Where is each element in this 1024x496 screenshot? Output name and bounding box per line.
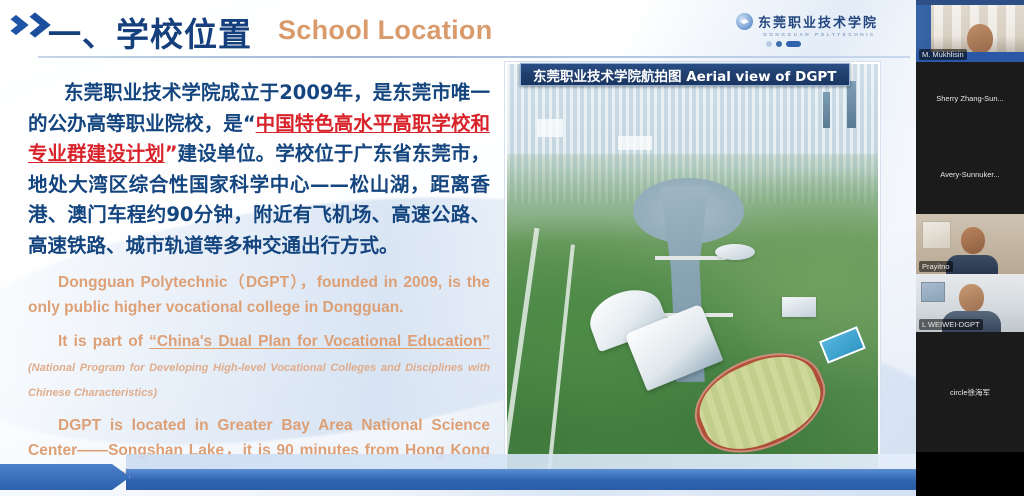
photo-bridge-1 bbox=[655, 256, 725, 260]
en-para-1: Dongguan Polytechnic（DGPT），founded in 20… bbox=[28, 274, 490, 316]
cn-quote-close: ” bbox=[165, 142, 178, 165]
participant-tile[interactable]: L WEIWEI-DGPT bbox=[916, 274, 1024, 332]
participant-name: Sherry Zhang-Sun... bbox=[933, 93, 1007, 104]
screen-share-view: 一、学校位置 School Location 东莞职业技术学院 DONGGUAN… bbox=[0, 0, 1024, 496]
participant-name: Avery-Sunnuker... bbox=[937, 169, 1002, 180]
slide-footer-bar bbox=[0, 464, 916, 490]
participant-name: Prayitno bbox=[919, 261, 953, 272]
participant-tile[interactable]: circle徐海军 bbox=[916, 332, 1024, 452]
participant-name: M. Mukhlisin bbox=[919, 49, 967, 60]
paragraph-english-2: It is part of “China's Dual Plan for Voc… bbox=[28, 329, 490, 404]
photo-tower-1 bbox=[847, 81, 856, 128]
participant-face bbox=[967, 24, 993, 54]
double-chevron-right-icon bbox=[8, 17, 45, 35]
video-wall-screen bbox=[921, 282, 945, 302]
slide-text-column: 东莞职业技术学院成立于2009年，是东莞市唯一的公办高等职业院校，是“中国特色高… bbox=[28, 78, 490, 488]
aerial-photo bbox=[505, 62, 880, 474]
footer-highlight bbox=[126, 454, 916, 469]
slide-title-chinese: 一、学校位置 bbox=[48, 8, 252, 56]
participant-tile[interactable]: Sherry Zhang-Sun... bbox=[916, 62, 1024, 134]
photo-caption: 东莞职业技术学院航拍图 Aerial view of DGPT bbox=[520, 63, 850, 86]
logo-name-english: DONGGUAN POLYTECHNIC bbox=[698, 32, 878, 37]
video-wall-panel bbox=[922, 221, 950, 249]
participant-name: L WEIWEI-DGPT bbox=[919, 319, 983, 330]
logo-dots-decoration bbox=[698, 41, 878, 47]
footer-bar-body bbox=[126, 469, 916, 490]
header-divider bbox=[38, 56, 910, 58]
en-para-2-note: (National Program for Developing High-le… bbox=[28, 362, 490, 399]
en-para-2-pre: It is part of bbox=[28, 333, 149, 350]
participant-video-rail[interactable]: M. Mukhlisin Sherry Zhang-Sun... Avery-S… bbox=[916, 0, 1024, 496]
footer-bar-arrow bbox=[0, 464, 130, 490]
photo-block-1 bbox=[537, 119, 563, 137]
cn-quote-open: “ bbox=[243, 112, 256, 135]
photo-tower-2 bbox=[823, 92, 830, 128]
participant-tile[interactable]: Prayitno bbox=[916, 214, 1024, 274]
participant-tile[interactable]: M. Mukhlisin bbox=[916, 0, 1024, 62]
slide-title-english: School Location bbox=[278, 15, 493, 46]
en-para-2-link: “China's Dual Plan for Vocational Educat… bbox=[149, 333, 490, 350]
participant-tile[interactable]: Avery-Sunnuker... bbox=[916, 134, 1024, 214]
paragraph-chinese: 东莞职业技术学院成立于2009年，是东莞市唯一的公办高等职业院校，是“中国特色高… bbox=[28, 78, 490, 261]
logo-name-chinese: 东莞职业技术学院 bbox=[758, 12, 878, 31]
university-logo: 东莞职业技术学院 DONGGUAN POLYTECHNIC bbox=[698, 12, 878, 48]
slide-header: 一、学校位置 School Location 东莞职业技术学院 DONGGUAN… bbox=[0, 0, 916, 62]
participant-torso bbox=[946, 255, 998, 274]
paragraph-english-1: Dongguan Polytechnic（DGPT），founded in 20… bbox=[28, 270, 490, 320]
photo-building-dome bbox=[715, 244, 755, 260]
photo-block-2 bbox=[618, 136, 652, 150]
university-seal-icon bbox=[736, 13, 753, 30]
photo-building-right bbox=[782, 297, 816, 317]
participant-name: circle徐海军 bbox=[947, 386, 993, 399]
presentation-slide: 一、学校位置 School Location 东莞职业技术学院 DONGGUAN… bbox=[0, 0, 916, 496]
